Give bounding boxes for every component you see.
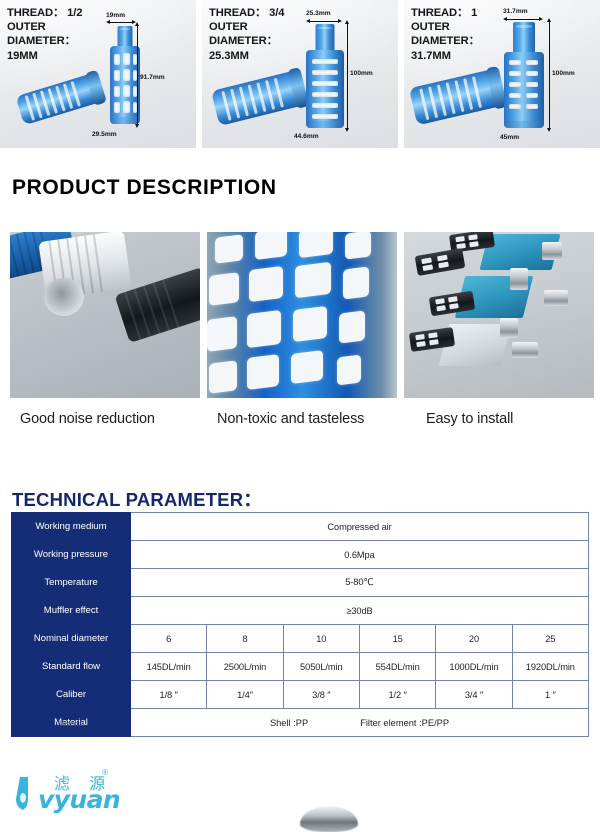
row-label-working-medium: Working medium xyxy=(12,513,131,541)
muffler-neck xyxy=(316,24,335,50)
row-label-caliber: Caliber xyxy=(12,681,131,709)
spec-panel-1-inch: THREAD： 1 OUTER DIAMETER： 31.7MM xyxy=(404,0,600,148)
silver-fitting-2 xyxy=(510,268,528,290)
feature-caption-3: Easy to install xyxy=(404,398,594,440)
outer-label-1b: DIAMETER： xyxy=(7,34,115,48)
spec-panel-strip: THREAD： 1/2 OUTER DIAMETER： 19MM xyxy=(0,0,600,155)
muffler-neck xyxy=(118,26,133,46)
cell-standard-flow-2: 2500L/min xyxy=(207,653,283,681)
muffler-body xyxy=(504,52,544,128)
muffler-endcap xyxy=(306,121,344,128)
dim-top-2: 25.3mm xyxy=(306,10,331,17)
spec-panel-1-2: THREAD： 1/2 OUTER DIAMETER： 19MM xyxy=(0,0,196,148)
table-row: Working medium Compressed air xyxy=(12,513,589,541)
cell-nominal-diameter-3: 10 xyxy=(283,625,359,653)
feature-card-non-toxic: Non-toxic and tasteless xyxy=(207,232,397,440)
cell-standard-flow-4: 554DL/min xyxy=(359,653,435,681)
row-value-muffler-effect: ≥30dB xyxy=(131,597,589,625)
muffler-lying-3 xyxy=(409,69,503,126)
feature-card-noise-reduction: Good noise reduction xyxy=(10,232,200,440)
dim-top-1: 19mm xyxy=(106,12,125,19)
outer-label-2a: OUTER xyxy=(209,20,317,34)
registered-mark: ® xyxy=(102,768,108,777)
brand-wordmark: vyuan xyxy=(38,785,120,814)
muffler-endcap xyxy=(504,121,544,128)
row-value-working-pressure: 0.6Mpa xyxy=(131,541,589,569)
cell-nominal-diameter-4: 15 xyxy=(359,625,435,653)
bottom-metal-object xyxy=(300,806,358,832)
spec-text-block-2: THREAD： 3/4 OUTER DIAMETER： 25.3MM xyxy=(209,6,317,63)
silver-fitting-5 xyxy=(512,342,538,358)
table-row: Nominal diameter 6 8 10 15 20 25 xyxy=(12,625,589,653)
row-label-standard-flow: Standard flow xyxy=(12,653,131,681)
silver-fitting-3 xyxy=(544,290,568,306)
dim-bottom-3: 45mm xyxy=(500,134,519,141)
muffler-lying-2 xyxy=(211,70,305,126)
cell-standard-flow-6: 1920DL/min xyxy=(512,653,588,681)
row-value-material: Shell :PPFilter element :PE/PP xyxy=(131,709,589,737)
table-row: Standard flow 145DL/min 2500L/min 5050L/… xyxy=(12,653,589,681)
muffler-endcap xyxy=(110,117,140,124)
technical-parameter-table: Working medium Compressed air Working pr… xyxy=(11,512,589,737)
dim-bottom-1: 29.5mm xyxy=(92,131,117,138)
row-label-material-ghost: Material xyxy=(12,719,130,728)
table-row: Caliber 1/8 ″ 1/4″ 3/8 ″ 1/2 ″ 3/4 ″ 1 ″ xyxy=(12,681,589,709)
table-row: Working pressure 0.6Mpa xyxy=(12,541,589,569)
technical-parameter-title: TECHNICAL PARAMETER： xyxy=(12,486,262,512)
cell-caliber-2: 1/4″ xyxy=(207,681,283,709)
product-description-title: PRODUCT DESCRIPTION xyxy=(12,176,277,200)
feature-caption-1: Good noise reduction xyxy=(10,398,200,440)
cell-caliber-6: 1 ″ xyxy=(512,681,588,709)
thread-label-2: THREAD： 3/4 xyxy=(209,6,317,20)
cell-caliber-4: 1/2 ″ xyxy=(359,681,435,709)
cell-standard-flow-1: 145DL/min xyxy=(131,653,207,681)
cell-nominal-diameter-2: 8 xyxy=(207,625,283,653)
dim-right-3: 100mm xyxy=(552,70,575,77)
dim-bottom-2: 44.6mm xyxy=(294,133,319,140)
outer-label-1a: OUTER xyxy=(7,20,115,34)
spec-text-block-1: THREAD： 1/2 OUTER DIAMETER： 19MM xyxy=(7,6,115,63)
dim-right-1: 91.7mm xyxy=(140,74,165,81)
outer-value-3: 31.7MM xyxy=(411,49,519,63)
spec-panel-3-4: THREAD： 3/4 OUTER DIAMETER： 25.3MM xyxy=(202,0,398,148)
cell-nominal-diameter-5: 20 xyxy=(436,625,512,653)
cell-caliber-3: 3/8 ″ xyxy=(283,681,359,709)
cell-caliber-5: 3/4 ″ xyxy=(436,681,512,709)
cell-caliber-1: 1/8 ″ xyxy=(131,681,207,709)
row-label-muffler-effect: Muffler effect xyxy=(12,597,131,625)
outer-value-2: 25.3MM xyxy=(209,49,317,63)
row-label-temperature: Temperature xyxy=(12,569,131,597)
table-row: Temperature 5-80℃ xyxy=(12,569,589,597)
feature-caption-2: Non-toxic and tasteless xyxy=(207,398,397,440)
muffler-slots xyxy=(504,52,544,128)
cell-standard-flow-3: 5050L/min xyxy=(283,653,359,681)
outer-label-3a: OUTER xyxy=(411,20,519,34)
brand-logo: 滤 源 ® vyuan xyxy=(14,769,214,815)
black-muffler-2 xyxy=(415,248,466,276)
feature-card-row: Good noise reduction Non-toxic and taste… xyxy=(10,232,594,440)
thread-label-1: THREAD： 1/2 xyxy=(7,6,115,20)
silver-fitting-1 xyxy=(542,242,562,260)
outer-label-3b: DIAMETER： xyxy=(411,34,519,48)
row-label-working-pressure: Working pressure xyxy=(12,541,131,569)
cell-standard-flow-5: 1000DL/min xyxy=(436,653,512,681)
outer-value-1: 19MM xyxy=(7,49,115,63)
outer-label-2b: DIAMETER： xyxy=(209,34,317,48)
row-value-temperature: 5-80℃ xyxy=(131,569,589,597)
table-row: Muffler effect ≥30dB xyxy=(12,597,589,625)
row-value-working-medium: Compressed air xyxy=(131,513,589,541)
material-shell: Shell :PP xyxy=(270,718,308,728)
feature-image-valve-assembly xyxy=(404,232,594,398)
silver-fitting-4 xyxy=(500,318,518,338)
row-label-nominal-diameter: Nominal diameter xyxy=(12,625,131,653)
feature-card-easy-install: Easy to install xyxy=(404,232,594,440)
row-label-material: Material Material xyxy=(12,709,131,737)
feature-image-threaded-fittings xyxy=(10,232,200,398)
material-filter-element: Filter element :PE/PP xyxy=(360,718,449,728)
table-row: Material Material Shell :PPFilter elemen… xyxy=(12,709,589,737)
muffler-lying-1 xyxy=(15,73,102,126)
dim-right-2: 100mm xyxy=(350,70,373,77)
cell-nominal-diameter-6: 25 xyxy=(512,625,588,653)
dim-top-3: 31.7mm xyxy=(503,8,528,15)
feature-image-mesh-macro xyxy=(207,232,397,398)
cell-nominal-diameter-1: 6 xyxy=(131,625,207,653)
